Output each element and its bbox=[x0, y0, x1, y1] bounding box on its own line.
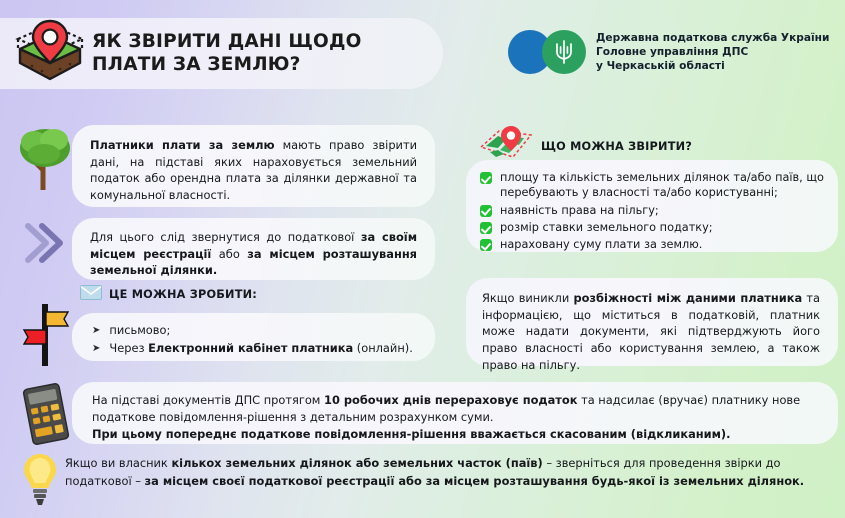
where-t1: Для цього слід звернутися до податкової bbox=[90, 230, 361, 244]
discrepancy-t1: Якщо виникли bbox=[482, 291, 573, 305]
recalculation-card: На підставі документів ДПС протягом 10 р… bbox=[72, 382, 838, 444]
list-item: наявність права на пільгу; bbox=[480, 203, 824, 218]
checklist-item-0: площу та кількість земельних ділянок та/… bbox=[500, 170, 824, 201]
logo-line-2: Головне управління ДПС bbox=[596, 45, 829, 59]
lightbulb-icon bbox=[20, 452, 60, 512]
double-chevron-icon bbox=[22, 218, 68, 272]
list-item: ➤ письмово; bbox=[92, 322, 417, 340]
how-item-0-text: письмово; bbox=[109, 323, 170, 337]
check-icon bbox=[480, 222, 492, 234]
how-heading: ЦЕ МОЖНА ЗРОБИТИ: bbox=[80, 285, 257, 303]
payers-text: Платники плати за землю мають право звір… bbox=[90, 137, 417, 204]
checklist: площу та кількість земельних ділянок та/… bbox=[480, 170, 824, 253]
calc-b1: 10 робочих днів перераховує податок bbox=[324, 393, 577, 407]
how-item-1-bold[interactable]: Електронний кабінет платника bbox=[148, 341, 353, 355]
bottom-b2: за місцем своєї податкової реєстрації аб… bbox=[145, 474, 805, 488]
list-item: розмір ставки земельного податку; bbox=[480, 220, 824, 235]
check-icon bbox=[480, 239, 492, 251]
list-item: ➤ Через Електронний кабінет платника (он… bbox=[92, 340, 417, 358]
list-item: площу та кількість земельних ділянок та/… bbox=[480, 170, 824, 201]
how-item-1: Через Електронний кабінет платника (онла… bbox=[109, 340, 412, 358]
logo-text: Державна податкова служба України Головн… bbox=[596, 31, 829, 73]
agency-logo: Державна податкова служба України Головн… bbox=[508, 30, 829, 74]
bottom-b1: кількох земельних ділянок або земельних … bbox=[171, 456, 542, 470]
check-icon bbox=[480, 205, 492, 217]
where-to-apply-card: Для цього слід звернутися до податкової … bbox=[72, 218, 435, 280]
logo-line-1: Державна податкова служба України bbox=[596, 31, 829, 45]
check-icon bbox=[480, 172, 492, 184]
discrepancy-b1: розбіжності між даними платника bbox=[573, 291, 802, 305]
page-title-line-2: ПЛАТИ ЗА ЗЕМЛЮ? bbox=[92, 54, 362, 77]
logo-line-3: у Черкаській області bbox=[596, 59, 829, 73]
bottom-t1: Якщо ви власник bbox=[65, 456, 171, 470]
recalculation-text: На підставі документів ДПС протягом 10 р… bbox=[92, 392, 818, 443]
tree-icon bbox=[16, 124, 74, 194]
land-plot-pin-icon bbox=[12, 19, 92, 89]
how-item-1-post: (онлайн). bbox=[353, 341, 413, 355]
how-item-0: письмово; bbox=[109, 322, 170, 340]
payers-card: Платники плати за землю мають право звір… bbox=[72, 125, 435, 207]
arrow-bullet-icon: ➤ bbox=[92, 326, 100, 336]
checklist-item-2: розмір ставки земельного податку; bbox=[500, 220, 713, 235]
calc-t1: На підставі документів ДПС протягом bbox=[92, 393, 324, 407]
logo-green-circle-trident-icon bbox=[542, 30, 586, 74]
arrow-bullet-icon: ➤ bbox=[92, 344, 100, 354]
logo-marks bbox=[508, 30, 586, 74]
envelope-icon bbox=[80, 285, 102, 303]
calculator-icon bbox=[18, 383, 74, 449]
list-item: нараховану суму плати за землю. bbox=[480, 237, 824, 252]
discrepancy-card: Якщо виникли розбіжності між даними плат… bbox=[466, 278, 838, 366]
page-title-line-1: ЯК ЗВІРИТИ ДАНІ ЩОДО bbox=[92, 31, 362, 54]
page-title: ЯК ЗВІРИТИ ДАНІ ЩОДО ПЛАТИ ЗА ЗЕМЛЮ? bbox=[92, 31, 362, 76]
checklist-card: площу та кількість земельних ділянок та/… bbox=[466, 160, 838, 252]
signpost-icon bbox=[20, 300, 72, 372]
calc-b2: При цьому попереднє податкове повідомлен… bbox=[92, 427, 730, 441]
header-card: ЯК ЗВІРИТИ ДАНІ ЩОДО ПЛАТИ ЗА ЗЕМЛЮ? bbox=[0, 18, 443, 89]
checklist-item-1: наявність права на пільгу; bbox=[500, 203, 659, 218]
how-card: ➤ письмово; ➤ Через Електронний кабінет … bbox=[72, 313, 435, 361]
discrepancy-text: Якщо виникли розбіжності між даними плат… bbox=[482, 290, 820, 373]
payers-bold: Платники плати за землю bbox=[90, 138, 275, 152]
what-heading-label: ЩО МОЖНА ЗВІРИТИ? bbox=[541, 140, 692, 153]
how-heading-label: ЦЕ МОЖНА ЗРОБИТИ: bbox=[109, 288, 257, 301]
how-item-1-pre: Через bbox=[109, 341, 148, 355]
where-text: Для цього слід звернутися до податкової … bbox=[90, 229, 417, 279]
checklist-item-3: нараховану суму плати за землю. bbox=[500, 237, 702, 252]
bottom-note: Якщо ви власник кількох земельних діляно… bbox=[65, 455, 840, 490]
where-t2: або bbox=[211, 247, 247, 261]
how-list: ➤ письмово; ➤ Через Електронний кабінет … bbox=[92, 322, 417, 357]
